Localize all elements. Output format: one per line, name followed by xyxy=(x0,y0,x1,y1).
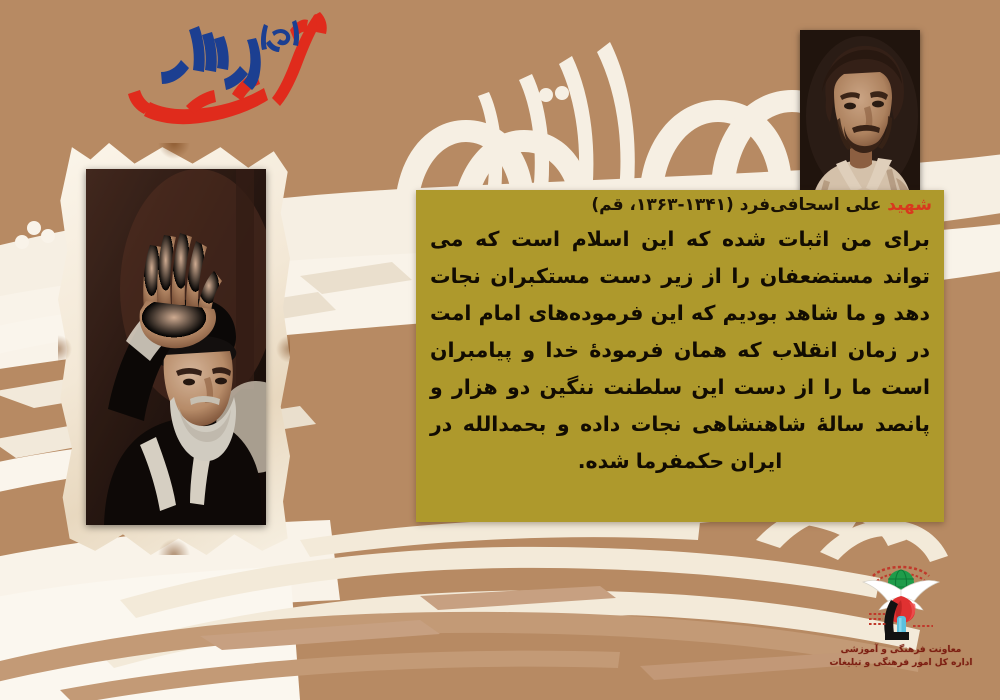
poster-canvas: شهید علی اسحافی‌فرد (۱۳۴۱-۱۳۶۳، قم) برای… xyxy=(0,0,1000,700)
quote-panel: شهید علی اسحافی‌فرد (۱۳۴۱-۱۳۶۳، قم) برای… xyxy=(416,190,944,522)
shahid-label: شهید xyxy=(887,195,932,215)
martyr-identity-line: شهید علی اسحافی‌فرد (۱۳۴۱-۱۳۶۳، قم) xyxy=(426,194,932,216)
org-caption-line-2: اداره کل امور فرهنگی و تبلیغات xyxy=(812,657,990,670)
org-caption-line-1: معاونت فرهنگی و آموزشی xyxy=(812,644,990,657)
imam-va-shohada-logo xyxy=(120,2,350,134)
organization-caption: معاونت فرهنگی و آموزشی اداره کل امور فره… xyxy=(812,644,990,669)
quote-text: برای من اثبات شده که این اسلام است که می… xyxy=(430,221,930,480)
martyr-name: علی اسحافی‌فرد xyxy=(740,195,882,215)
organization-block: معاونت فرهنگی و آموزشی اداره کل امور فره… xyxy=(812,556,990,684)
martyr-dates: (۱۳۴۱-۱۳۶۳، قم) xyxy=(591,195,733,215)
imam-khomeini-photo xyxy=(86,169,266,525)
cultural-affairs-emblem xyxy=(851,556,951,642)
imam-photo-frame xyxy=(58,143,290,555)
martyr-portrait-photo xyxy=(800,30,920,202)
